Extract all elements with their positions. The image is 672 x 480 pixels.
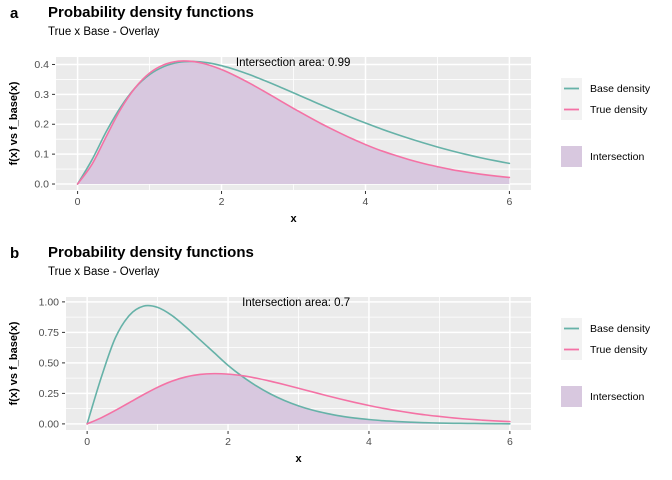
x-axis-tick-label: 6: [507, 436, 513, 448]
x-axis-tick-label: 2: [219, 196, 225, 208]
y-axis-tick-label: 0.0: [34, 179, 49, 191]
x-axis-tick-label: 2: [225, 436, 231, 448]
y-axis-tick-label: 1.00: [39, 296, 60, 308]
y-axis-tick-label: 0.1: [34, 149, 49, 161]
x-axis-tick-label: 0: [84, 436, 90, 448]
legend-line-key-background: [561, 78, 582, 120]
x-axis-tick-label: 4: [363, 196, 369, 208]
y-axis-title: f(x) vs f_base(x): [8, 81, 20, 165]
chart-a-root: Intersection area: 0.9902460.00.10.20.30…: [6, 57, 651, 225]
y-axis-title: f(x) vs f_base(x): [8, 321, 20, 405]
x-axis-tick-label: 0: [75, 196, 81, 208]
y-axis-tick-label: 0.00: [39, 418, 60, 430]
x-axis-title: x: [290, 213, 297, 225]
y-axis-tick-label: 0.4: [34, 59, 49, 71]
legend: Base densityTrue densityIntersection: [561, 78, 651, 167]
legend-label-base-density[interactable]: Base density: [590, 323, 651, 335]
panel-b: b Probability density functions True x B…: [0, 240, 672, 480]
legend: Base densityTrue densityIntersection: [561, 318, 651, 407]
y-axis-tick-label: 0.3: [34, 89, 49, 101]
intersection-area-annotation: Intersection area: 0.99: [236, 57, 350, 69]
legend-label-intersection[interactable]: Intersection: [590, 151, 644, 163]
chart-b-root: Intersection area: 0.702460.000.250.500.…: [8, 296, 651, 465]
figure-container: a Probability density functions True x B…: [0, 0, 672, 480]
intersection-area-annotation: Intersection area: 0.7: [242, 297, 350, 309]
y-axis-tick-label: 0.2: [34, 119, 49, 131]
legend-fill-swatch-intersection[interactable]: [561, 146, 582, 167]
y-axis-tick-label: 0.50: [39, 357, 60, 369]
legend-label-true-density[interactable]: True density: [590, 104, 648, 116]
panel-a: a Probability density functions True x B…: [0, 0, 672, 240]
legend-label-intersection[interactable]: Intersection: [590, 391, 644, 403]
legend-label-true-density[interactable]: True density: [590, 344, 648, 356]
chart-b-svg: Intersection area: 0.702460.000.250.500.…: [0, 240, 672, 480]
y-axis-tick-label: 0.25: [39, 388, 60, 400]
y-axis-tick-label: 0.75: [39, 327, 60, 339]
x-axis-tick-label: 6: [506, 196, 512, 208]
x-axis-tick-label: 4: [366, 436, 372, 448]
legend-fill-swatch-intersection[interactable]: [561, 386, 582, 407]
legend-line-key-background: [561, 318, 582, 360]
legend-label-base-density[interactable]: Base density: [590, 83, 651, 95]
x-axis-title: x: [295, 453, 302, 465]
chart-a-svg: Intersection area: 0.9902460.00.10.20.30…: [0, 0, 672, 240]
